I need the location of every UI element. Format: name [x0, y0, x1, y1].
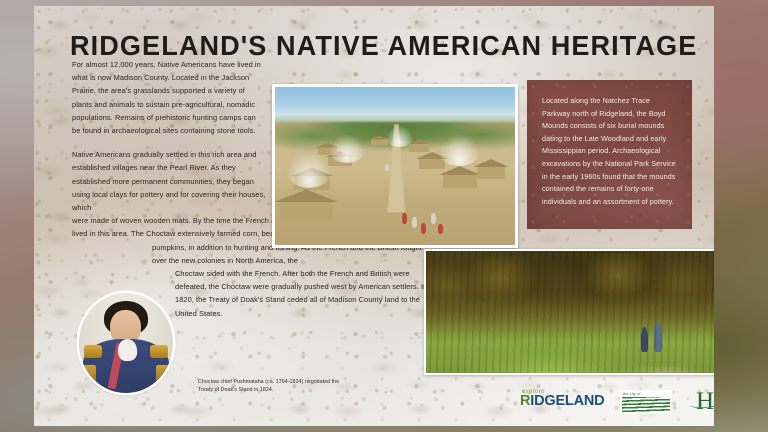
- boyd-mounds-info-text: Located along the Natchez Trace Parkway …: [527, 80, 692, 208]
- boyd-mounds-info-box: Located along the Natchez Trace Parkway …: [527, 80, 692, 229]
- village-hut: [409, 144, 428, 152]
- paragraph-one: For almost 12,000 years, Native American…: [72, 58, 262, 137]
- portrait-cravat: [117, 338, 137, 361]
- village-figure: [438, 224, 443, 233]
- h-monogram-logo[interactable]: H: [690, 388, 714, 416]
- heritage-interpretive-panel: RIDGELAND'S NATIVE AMERICAN HERITAGE For…: [34, 6, 714, 426]
- paragraph-two-part-four: Choctaw sided with the French. After bot…: [175, 267, 437, 320]
- logo-row: explore RIDGELAND the city of RIDGELAND …: [520, 386, 714, 420]
- portrait-epaulette-right: [150, 345, 168, 358]
- walking-visitor: [641, 327, 648, 353]
- hearth-smoke: [385, 125, 414, 147]
- explore-wordmark-main: RIDGELAND: [520, 394, 604, 409]
- village-hut: [280, 201, 333, 222]
- hearth-smoke: [328, 134, 366, 162]
- explore-ridgeland-logo[interactable]: explore RIDGELAND: [520, 388, 604, 409]
- hearth-smoke: [438, 134, 481, 166]
- h-monogram-swoosh-icon: [689, 398, 714, 409]
- city-of-ridgeland-logo[interactable]: the city of RIDGELAND: [620, 390, 672, 414]
- boyd-mounds-photo-image: [426, 251, 714, 373]
- village-figure: [385, 164, 388, 170]
- village-figure: [421, 223, 426, 234]
- village-hut: [477, 166, 506, 179]
- portrait-caption: Choctaw chief Pushmataha (ca. 1764-1824)…: [198, 378, 348, 394]
- city-waves-icon: [622, 397, 670, 412]
- paragraph-two-part-one: Native Americans gradually settled in th…: [72, 148, 272, 214]
- village-figure: [431, 213, 436, 224]
- village-figure: [412, 217, 417, 228]
- explore-wordmark-initial: R: [520, 393, 530, 409]
- mound-village-illustration: [272, 84, 518, 248]
- screenshot-stage: RIDGELAND'S NATIVE AMERICAN HERITAGE For…: [0, 0, 768, 432]
- explore-wordmark-rest: IDGELAND: [530, 393, 604, 409]
- pushmataha-portrait: [79, 293, 173, 393]
- walking-visitor: [654, 322, 662, 353]
- portrait-cuff-left: [82, 365, 96, 385]
- mound-village-illustration-image: [275, 87, 515, 245]
- portrait-cuff-right: [156, 365, 170, 385]
- village-figure: [402, 213, 407, 224]
- boyd-mounds-photo: [424, 249, 714, 375]
- hearth-smoke: [285, 150, 333, 188]
- portrait-epaulette-left: [84, 345, 102, 358]
- village-hut: [443, 174, 477, 188]
